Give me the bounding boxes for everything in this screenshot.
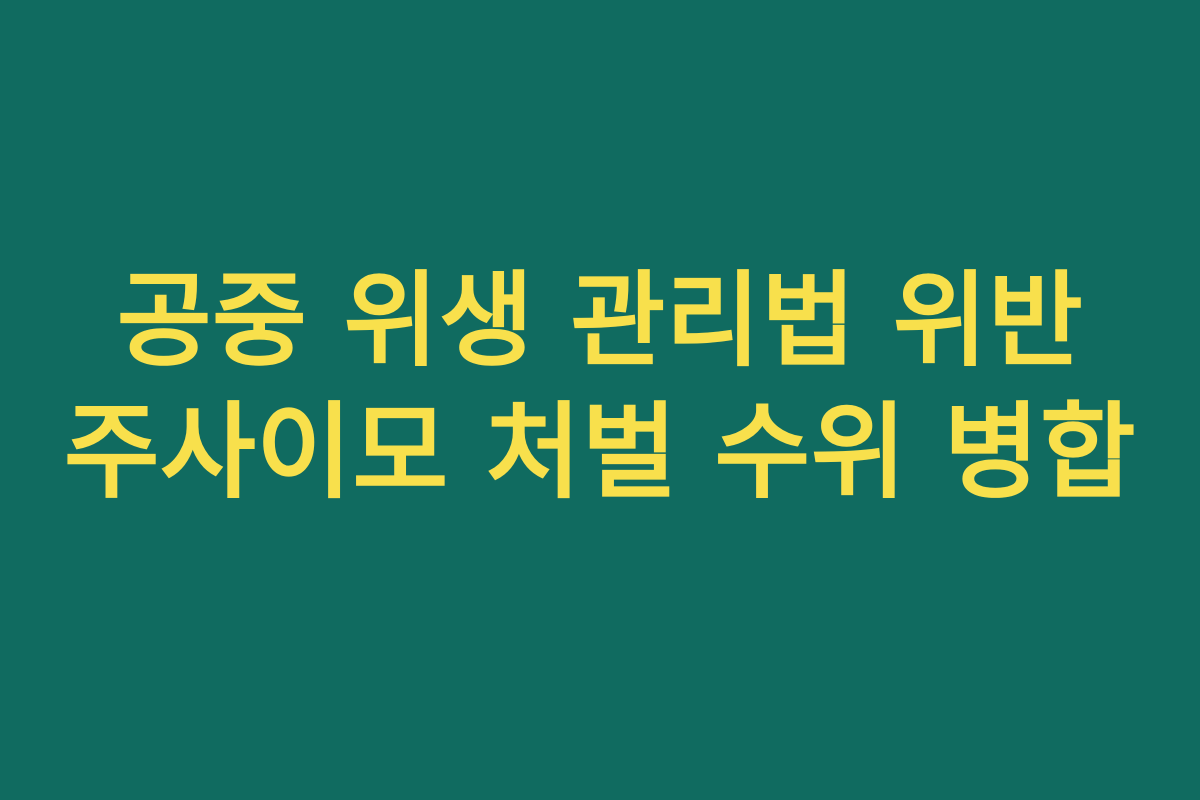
poster-canvas: 공중 위생 관리법 위반 주사이모 처벌 수위 병합 <box>0 0 1200 800</box>
headline-line-1: 공중 위생 관리법 위반 <box>117 256 1084 387</box>
headline-block: 공중 위생 관리법 위반 주사이모 처벌 수위 병합 <box>0 256 1200 519</box>
headline-line-2: 주사이모 처벌 수위 병합 <box>64 386 1136 518</box>
